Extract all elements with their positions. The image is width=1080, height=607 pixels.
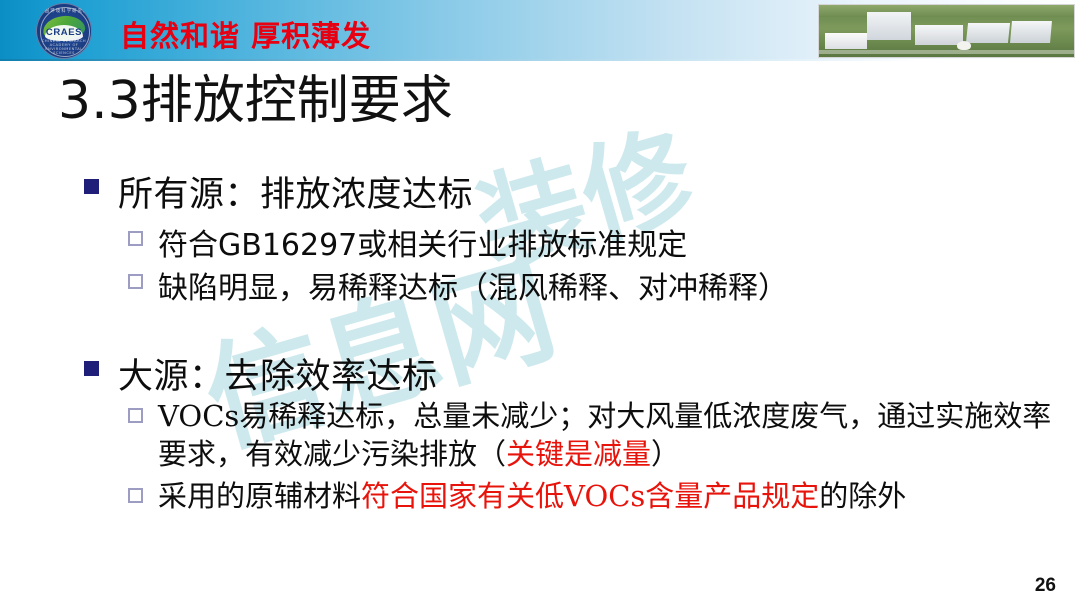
craes-logo: 中国环境科学研究院 CRAES CHINESE RESEARCH ACADEMY…: [36, 3, 92, 59]
page-number: 26: [1035, 575, 1056, 597]
photo-road: [819, 50, 1074, 54]
list-item: 采用的原辅材料符合国家有关低VOCs含量产品规定的除外: [128, 477, 1063, 515]
bullet-group-1-heading: 所有源：排放浓度达标: [84, 166, 473, 217]
photo-building-2: [915, 25, 963, 45]
photo-building-5: [825, 33, 867, 49]
bullet-heading-text: 所有源：排放浓度达标: [118, 166, 473, 217]
plain-text: ）: [651, 437, 680, 471]
slide: 中国环境科学研究院 CRAES CHINESE RESEARCH ACADEMY…: [0, 0, 1080, 607]
list-item-text: 采用的原辅材料符合国家有关低VOCs含量产品规定的除外: [158, 477, 1063, 515]
plain-text: 的除外: [819, 479, 906, 513]
photo-building-4: [1010, 21, 1052, 43]
emphasis-text: 符合国家有关低VOCs含量产品规定: [361, 479, 819, 513]
logo-arc-top-text: 中国环境科学研究院: [36, 8, 92, 14]
hollow-square-bullet-icon: [128, 231, 143, 246]
photo-building-1: [867, 12, 911, 40]
plain-text: 采用的原辅材料: [158, 479, 361, 513]
square-bullet-icon: [84, 361, 99, 376]
list-item-text: 符合GB16297或相关行业排放标准规定: [158, 220, 687, 264]
square-bullet-icon: [84, 179, 99, 194]
bullet-group-2-heading: 大源：去除效率达标: [84, 348, 438, 399]
page-title: 3.3排放控制要求: [58, 58, 453, 133]
hollow-square-bullet-icon: [128, 488, 143, 503]
logo-acronym: CRAES: [36, 27, 92, 38]
bullet-heading-text: 大源：去除效率达标: [118, 348, 438, 399]
photo-dome: [957, 41, 971, 50]
photo-building-3: [966, 23, 1010, 43]
logo-arc-bottom-text: CHINESE RESEARCH ACADEMY OF ENVIRONMENTA…: [36, 39, 92, 55]
list-item-text: VOCs易稀释达标，总量未减少；对大风量低浓度废气，通过实施效率要求，有效减少污…: [158, 397, 1063, 473]
list-item: 符合GB16297或相关行业排放标准规定: [128, 220, 687, 264]
hollow-square-bullet-icon: [128, 408, 143, 423]
hollow-square-bullet-icon: [128, 274, 143, 289]
header-banner: 中国环境科学研究院 CRAES CHINESE RESEARCH ACADEMY…: [0, 0, 1080, 61]
header-slogan: 自然和谐 厚积薄发: [120, 13, 371, 55]
list-item: 缺陷明显，易稀释达标（混风稀释、对冲稀释）: [128, 263, 788, 307]
list-item: VOCs易稀释达标，总量未减少；对大风量低浓度废气，通过实施效率要求，有效减少污…: [128, 397, 1063, 473]
emphasis-text: 关键是减量: [506, 437, 651, 471]
photo-sky: [819, 5, 1074, 17]
campus-aerial-photo: [818, 4, 1075, 58]
list-item-text: 缺陷明显，易稀释达标（混风稀释、对冲稀释）: [158, 263, 788, 307]
